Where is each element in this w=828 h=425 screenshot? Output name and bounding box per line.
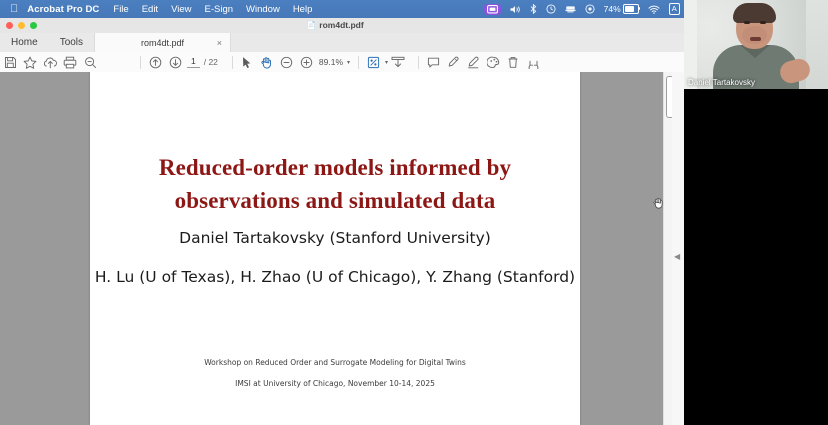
tools-tab[interactable]: Tools [49,37,94,48]
apple-icon[interactable]:  [10,4,18,15]
participant-mouth [750,37,761,41]
close-icon[interactable]: × [217,38,222,48]
tabstrip-filler [231,33,744,52]
screen-root:  Acrobat Pro DC File Edit View E-Sign W… [0,0,828,425]
screen-share-icon[interactable] [484,4,501,15]
participant-name-bar: Daniel Tartakovsky [684,76,828,89]
slide-footer-line2: IMSI at University of Chicago, November … [90,379,580,388]
participant-eye-right [760,21,766,24]
tabstrip-nav: Home Tools [0,33,94,52]
search-icon[interactable] [80,52,100,72]
toolbar-fit-tools: ▾ [363,52,408,72]
volume-icon[interactable] [510,5,521,14]
window-title-text: rom4dt.pdf [319,20,363,30]
page-indicator: 1 / 22 [187,56,218,68]
collapse-panel-arrow-icon[interactable]: ◀ [674,252,680,261]
battery-icon[interactable]: 74% [604,4,639,14]
document-tab-label: rom4dt.pdf [141,38,184,48]
chevron-down-icon[interactable]: ▾ [347,59,350,66]
highlighter-icon[interactable] [443,52,463,72]
document-tab-rom4dt[interactable]: rom4dt.pdf × [94,33,231,52]
next-page-icon[interactable] [165,52,185,72]
video-panel-empty-area [684,89,828,425]
delete-icon[interactable] [503,52,523,72]
toolbar-separator-4 [418,56,419,69]
page-total-label: / 22 [204,57,218,67]
zoom-level-value[interactable]: 89.1% [319,57,343,67]
battery-percent-label: 74% [604,4,621,14]
document-viewport[interactable]: Reduced-order models informed by observa… [0,72,672,425]
slide-title-line2: observations and simulated data [90,184,580,217]
participant-video-tile[interactable]: Daniel Tartakovsky [684,0,828,89]
control-center-icon[interactable] [585,4,595,14]
slide-title-line1: Reduced-order models informed by [90,151,580,184]
window-title: 📄 rom4dt.pdf [0,20,670,30]
participant-name-label: Daniel Tartakovsky [684,78,755,87]
toolbar-annotation-tools [423,52,543,72]
toolbar-file-group [0,52,100,72]
menu-item-esign[interactable]: E-Sign [205,4,234,15]
menu-item-view[interactable]: View [171,4,191,15]
zoom-in-icon[interactable] [297,52,317,72]
comment-icon[interactable] [423,52,443,72]
hand-tool-icon[interactable] [257,52,277,72]
menu-item-edit[interactable]: Edit [142,4,158,15]
menu-item-window[interactable]: Window [246,4,280,15]
rotate-icon[interactable] [523,52,543,72]
slide-footer-line1: Workshop on Reduced Order and Surrogate … [90,358,580,367]
slide-coauthors: H. Lu (U of Texas), H. Zhao (U of Chicag… [90,268,580,286]
menu-item-file[interactable]: File [113,4,128,15]
participant-eye-left [744,21,750,24]
toolbar-page-nav: 1 / 22 [145,52,220,72]
select-cursor-icon[interactable] [237,52,257,72]
toolbar-separator-3 [358,56,359,69]
current-page-input[interactable]: 1 [187,56,200,68]
participant-hair [733,3,776,23]
participant-face-shadow [742,26,767,44]
fit-page-icon[interactable] [363,52,383,72]
draw-icon[interactable] [463,52,483,72]
previous-page-icon[interactable] [145,52,165,72]
home-tab[interactable]: Home [0,37,49,48]
document-icon: 📄 [306,21,316,30]
pdf-page-1[interactable]: Reduced-order models informed by observa… [90,72,580,425]
battery-glyph [623,4,639,14]
stamp-icon[interactable] [483,52,503,72]
zoom-out-icon[interactable] [277,52,297,72]
fit-width-icon[interactable] [388,52,408,72]
display-icon[interactable] [565,5,576,14]
menu-item-help[interactable]: Help [293,4,313,15]
star-icon[interactable] [20,52,40,72]
video-conference-panel[interactable]: Daniel Tartakovsky [684,0,828,425]
toolbar-view-tools: 89.1% ▾ [237,52,350,72]
slide-author: Daniel Tartakovsky (Stanford University) [90,229,580,247]
slide-title: Reduced-order models informed by observa… [90,151,580,217]
wifi-icon[interactable] [648,5,660,14]
upload-cloud-icon[interactable] [40,52,60,72]
bluetooth-icon[interactable] [530,4,537,14]
active-app-name[interactable]: Acrobat Pro DC [27,4,99,15]
toolbar-separator-2 [232,56,233,69]
print-icon[interactable] [60,52,80,72]
save-icon[interactable] [0,52,20,72]
keyboard-input-icon[interactable]: A [669,3,680,15]
clock-icon[interactable] [546,4,556,14]
toolbar-separator [140,56,141,69]
